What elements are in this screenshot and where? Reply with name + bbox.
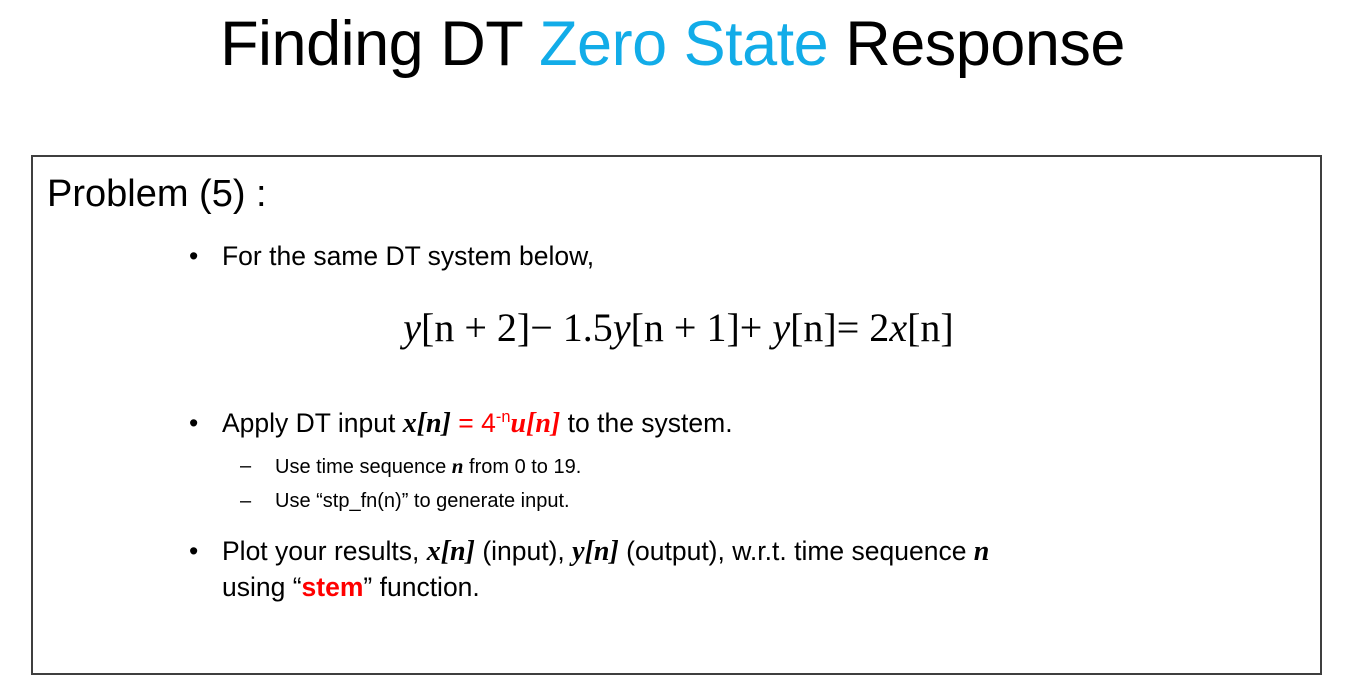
subbullet-item-1: –Use time sequence n from 0 to 19. bbox=[228, 451, 1303, 482]
bullet-marker-icon: • bbox=[189, 239, 198, 273]
bullet-marker-icon: • bbox=[189, 406, 198, 440]
bullet-2-post: to the system. bbox=[560, 408, 732, 438]
bullet-3-var-x: x[n] bbox=[427, 536, 475, 567]
bullet-3-line2-pre: using “ bbox=[222, 572, 302, 602]
bullet-2-var-u: u[n] bbox=[510, 408, 560, 439]
bullet-2-pre: Apply DT input bbox=[222, 408, 403, 438]
subbullet-1-var-n: n bbox=[452, 454, 464, 478]
subbullet-1-pre: Use time sequence bbox=[275, 456, 452, 478]
bullet-2-exponent: -n bbox=[496, 408, 511, 426]
subbullet-2-text: Use “stp_fn(n)” to generate input. bbox=[275, 490, 570, 512]
bullet-item-2: •Apply DT input x[n] = 4-nu[n] to the sy… bbox=[183, 406, 1303, 441]
bullet-2-var-x: x[n] bbox=[403, 408, 451, 439]
bullet-1-text: For the same DT system below, bbox=[222, 241, 594, 271]
slide-title-part1: Finding DT bbox=[220, 9, 539, 79]
bullet-3-mid1: (input), bbox=[475, 536, 572, 566]
bullet-3-pre: Plot your results, bbox=[222, 536, 427, 566]
problem-heading: Problem (5) : bbox=[47, 171, 267, 217]
slide-title: Finding DT Zero State Response bbox=[0, 2, 1345, 86]
bullet-3-mid2: (output), w.r.t. time sequence bbox=[619, 536, 974, 566]
bullet-marker-icon: • bbox=[189, 534, 198, 568]
bullet-3-line2: using “stem” function. bbox=[222, 570, 1303, 604]
subbullet-dash-icon: – bbox=[240, 486, 251, 516]
problem-content-box: Problem (5) : y[n + 2]− 1.5y[n + 1]+ y[n… bbox=[31, 155, 1322, 675]
bullet-3-var-y: y[n] bbox=[572, 536, 619, 567]
bullet-2-base: 4 bbox=[481, 408, 496, 438]
subbullet-item-2: –Use “stp_fn(n)” to generate input. bbox=[228, 486, 1303, 516]
subbullet-dash-icon: – bbox=[240, 451, 251, 481]
subbullet-1-post: from 0 to 19. bbox=[463, 456, 581, 478]
equation-spacer bbox=[183, 273, 1303, 385]
bullet-3-stem-keyword: stem bbox=[302, 572, 364, 602]
bullet-3-line2-post: ” function. bbox=[363, 572, 479, 602]
slide-title-part2: Response bbox=[828, 9, 1125, 79]
bullet-list: •For the same DT system below, •Apply DT… bbox=[183, 239, 1303, 604]
bullet-item-3: •Plot your results, x[n] (input), y[n] (… bbox=[183, 534, 1303, 604]
bullet-2-equals: = bbox=[451, 408, 481, 438]
bullet-3-var-n: n bbox=[974, 536, 990, 567]
bullet-item-1: •For the same DT system below, bbox=[183, 239, 1303, 273]
slide-title-accent: Zero State bbox=[539, 9, 828, 79]
